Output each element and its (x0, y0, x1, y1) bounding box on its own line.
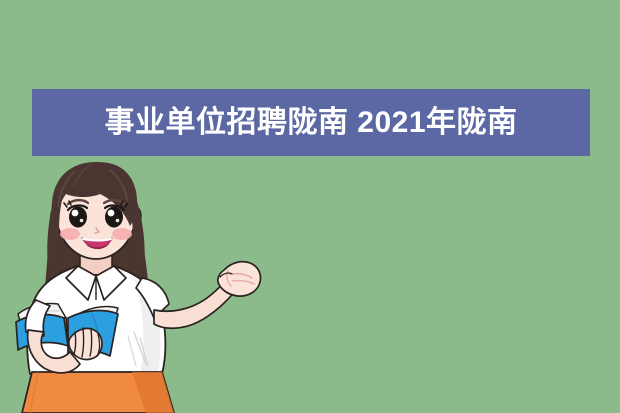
illustration-cartoon-girl (14, 150, 274, 413)
skirt-shape (22, 372, 174, 413)
extended-arm-and-hand (136, 262, 261, 329)
screenshot-root: 事业单位招聘陇南 2021年陇南 (0, 0, 620, 413)
page-title: 事业单位招聘陇南 2021年陇南 (104, 106, 517, 139)
title-banner: 事业单位招聘陇南 2021年陇南 (32, 89, 590, 156)
